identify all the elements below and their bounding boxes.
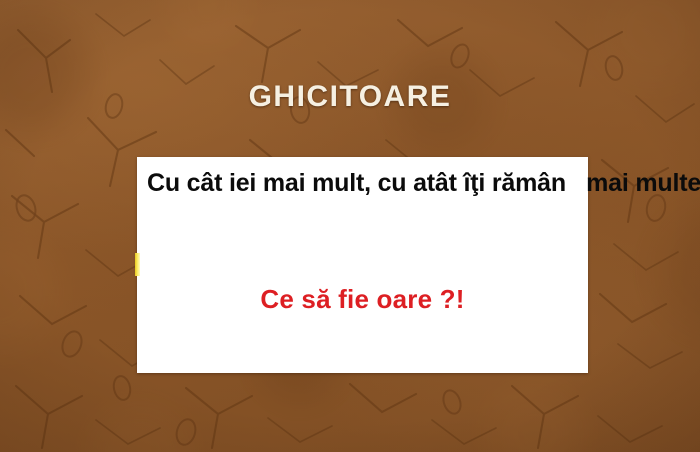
yellow-edge-accent bbox=[135, 253, 140, 276]
riddle-image: GHICITOARE Cu cât iei mai mult, cu atât … bbox=[0, 0, 700, 452]
riddle-text: Cu cât iei mai mult, cu atât îţi rămân m… bbox=[147, 165, 583, 201]
answer-prompt-text: Ce să fie oare ?! bbox=[137, 284, 588, 315]
page-title: GHICITOARE bbox=[0, 80, 700, 114]
riddle-card: Cu cât iei mai mult, cu atât îţi rămân m… bbox=[137, 157, 588, 373]
